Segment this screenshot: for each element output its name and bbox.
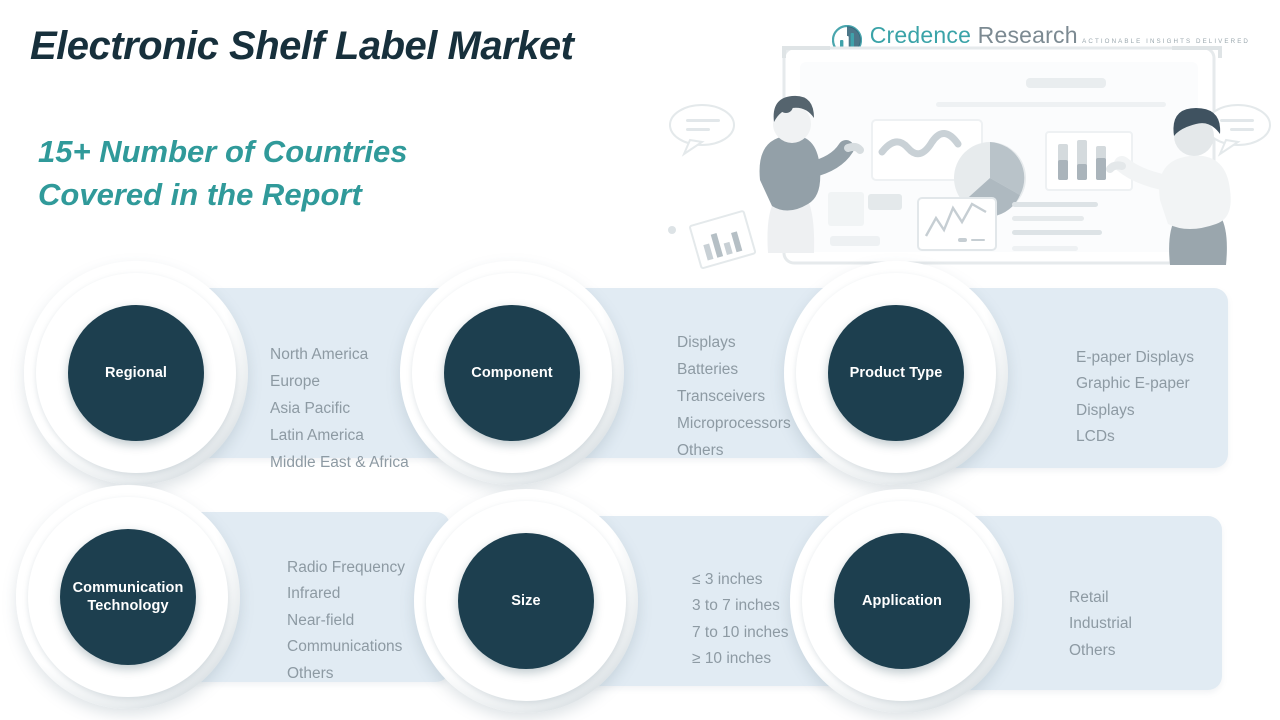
segment-label-communication-technology: Communication Technology [67, 579, 190, 615]
bar-chart-logo-icon [832, 25, 862, 55]
segment-label-application: Application [856, 592, 948, 610]
segment-circle-product-type[interactable]: Product Type [828, 305, 964, 441]
page-subtitle: 15+ Number of Countries Covered in the R… [38, 130, 408, 216]
list-item: Retail [1069, 585, 1259, 612]
list-item: E-paper Displays [1076, 345, 1266, 372]
segment-label-regional: Regional [99, 364, 173, 382]
segment-circle-application[interactable]: Application [834, 533, 970, 669]
subtitle-line-1: 15+ Number of Countries [38, 134, 408, 169]
segment-label-line-1: Communication [73, 580, 184, 596]
company-logo: Credence Research Actionable Insights De… [832, 22, 1250, 55]
list-item: Industrial [1069, 611, 1259, 638]
page-title: Electronic Shelf Label Market [30, 24, 573, 69]
segment-circle-communication-technology[interactable]: Communication Technology [60, 529, 196, 665]
segment-label-line-2: Technology [87, 598, 168, 614]
segment-label-size: Size [505, 592, 546, 610]
list-item: Others [1069, 638, 1259, 665]
segment-label-component: Component [465, 364, 558, 382]
segment-items-product-type: E-paper Displays Graphic E-paper Display… [1036, 345, 1266, 451]
logo-brand-word: Credence [870, 22, 971, 48]
segment-circle-component[interactable]: Component [444, 305, 580, 441]
list-item: Graphic E-paper Displays [1076, 371, 1266, 424]
list-item: LCDs [1076, 424, 1266, 451]
subtitle-line-2: Covered in the Report [38, 173, 408, 216]
business-analytics-illustration [660, 40, 1280, 290]
segment-circle-regional[interactable]: Regional [68, 305, 204, 441]
logo-text-block: Credence Research Actionable Insights De… [870, 22, 1250, 48]
logo-wordmark: Credence Research [870, 22, 1078, 48]
segment-items-application: Retail Industrial Others [1029, 585, 1259, 665]
logo-tagline: Actionable Insights Delivered [1082, 38, 1250, 45]
segment-label-product-type: Product Type [844, 364, 949, 382]
logo-name-word: Research [978, 22, 1078, 48]
segment-circle-size[interactable]: Size [458, 533, 594, 669]
